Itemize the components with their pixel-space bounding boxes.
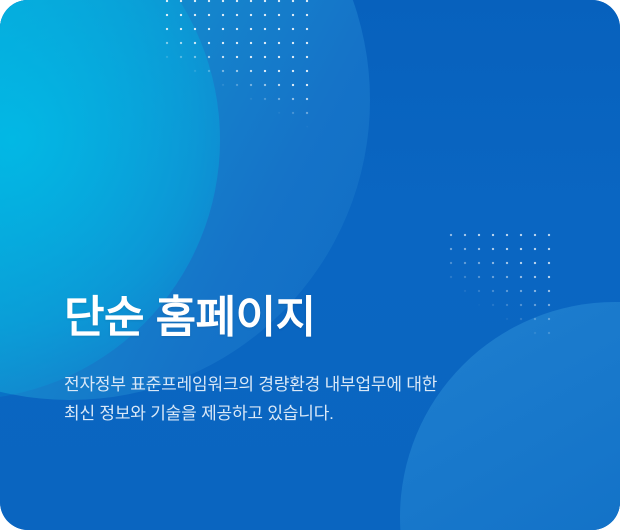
dot-grid-top-decoration [160,0,316,144]
page-subtitle: 전자정부 표준프레임워크의 경량환경 내부업무에 대한 최신 정보와 기술을 제… [64,344,574,428]
hero-content: 단순 홈페이지 전자정부 표준프레임워크의 경량환경 내부업무에 대한 최신 정… [64,292,574,428]
hero-banner: 단순 홈페이지 전자정부 표준프레임워크의 경량환경 내부업무에 대한 최신 정… [0,0,620,530]
page-title: 단순 홈페이지 [64,292,574,344]
